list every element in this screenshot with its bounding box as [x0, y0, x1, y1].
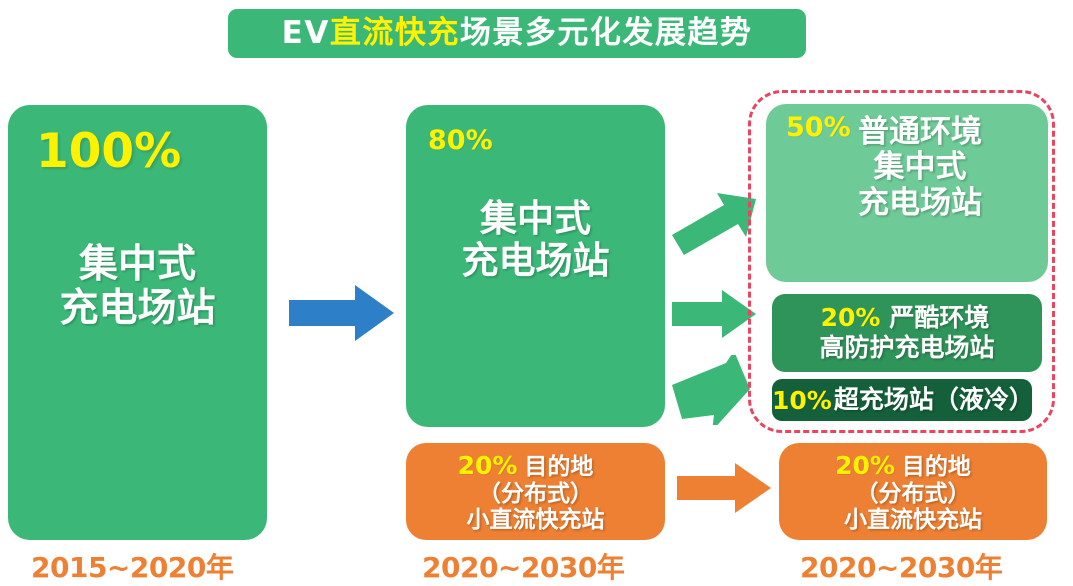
stage3-normal-environment-box: 50% 普通环境 集中式 充电场站 — [766, 104, 1048, 282]
title-suffix: 场景多元化发展趋势 — [460, 15, 753, 51]
title-highlight: 直流快充 — [330, 15, 460, 51]
stage3-destination-percent: 20% — [835, 453, 895, 478]
stage2-destination-box: 20% 目的地 （分布式） 小直流快充站 — [406, 443, 665, 540]
stage3-destination-box: 20% 目的地 （分布式） 小直流快充站 — [779, 443, 1047, 540]
stage2-percent: 80% — [428, 127, 493, 154]
diagram-canvas: EV直流快充场景多元化发展趋势 100% 集中式 充电场站 2015~2020年… — [0, 0, 1073, 586]
stage1-label: 集中式 充电场站 — [8, 243, 267, 332]
stage1-year-label: 2015~2020年 — [31, 546, 233, 586]
stage3-supercharge-box: 10% 超充场站（液冷） — [772, 379, 1032, 421]
stage2-destination-line1: 目的地 — [524, 454, 593, 480]
stage2-year-label: 2020~2030年 — [422, 546, 624, 586]
diagram-title-banner: EV直流快充场景多元化发展趋势 — [228, 9, 806, 58]
stage3-normal-label: 普通环境 集中式 充电场站 — [766, 115, 1048, 221]
stage3-severe-line2: 高防护充电场站 — [819, 334, 994, 363]
stage1-percent: 100% — [36, 128, 181, 175]
stage2-destination-percent: 20% — [458, 453, 518, 478]
stage3-severe-line1: 严酷环境 — [889, 304, 989, 333]
stage3-year-label: 2020~2030年 — [800, 546, 1002, 586]
stage2-label: 集中式 充电场站 — [406, 198, 665, 282]
stage3-supercharge-label: 超充场站（液冷） — [834, 386, 1032, 415]
arrow-right-orange-icon — [677, 462, 771, 514]
arrow-right-blue-icon — [289, 283, 394, 343]
arrow-down-right-green-icon — [672, 355, 756, 425]
stage3-supercharge-percent: 10% — [772, 388, 832, 413]
stage3-destination-line2: （分布式） 小直流快充站 — [779, 481, 1047, 533]
stage3-destination-line1: 目的地 — [902, 454, 971, 480]
title-prefix: EV — [282, 15, 330, 51]
arrow-right-green-icon — [672, 290, 756, 338]
stage2-destination-line2: （分布式） 小直流快充站 — [406, 481, 665, 533]
arrow-up-right-green-icon — [672, 193, 756, 263]
stage3-severe-percent: 20% — [821, 305, 881, 330]
stage3-severe-environment-box: 20% 严酷环境 高防护充电场站 — [772, 294, 1042, 372]
stage2-centralized-box: 80% 集中式 充电场站 — [406, 105, 665, 427]
stage1-centralized-box: 100% 集中式 充电场站 — [8, 105, 267, 540]
